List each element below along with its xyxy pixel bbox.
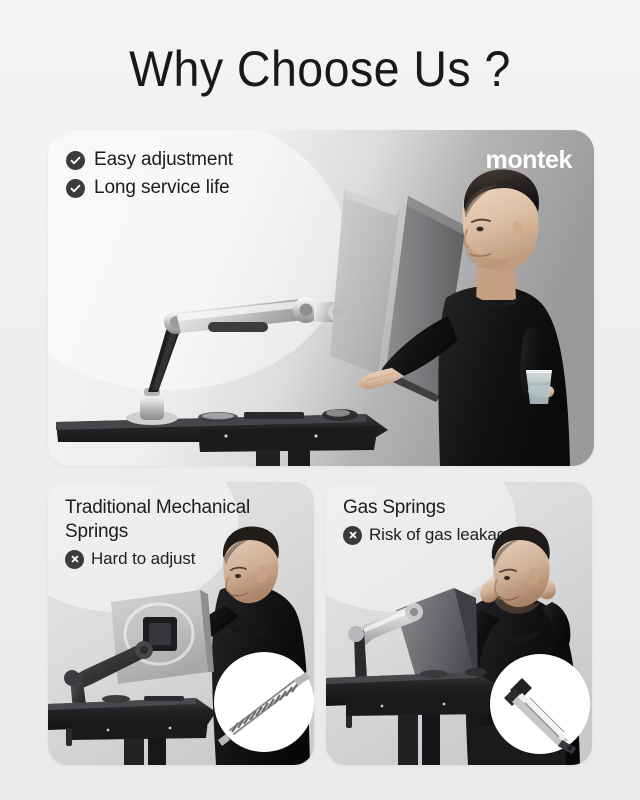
benefit-label: Easy adjustment: [94, 148, 233, 172]
card-title-line1: Traditional Mechanical: [65, 496, 305, 520]
benefit-row: Long service life: [66, 176, 233, 200]
comparison-card-gas-springs: Gas Springs Risk of gas leakage: [326, 482, 592, 765]
drawback-label: Hard to adjust: [91, 548, 195, 570]
check-circle-icon: [66, 151, 85, 170]
card-title-line2: Springs: [65, 520, 305, 544]
card-heading-block: Traditional Mechanical Springs Hard to a…: [65, 496, 305, 570]
comparison-card-traditional-springs: Traditional Mechanical Springs Hard to a…: [48, 482, 314, 765]
hero-card: Easy adjustment Long service life montek: [48, 130, 594, 466]
brand-logo: montek: [485, 146, 572, 174]
gas-cylinder-inset: [490, 654, 590, 754]
card-heading-block: Gas Springs Risk of gas leakage: [343, 496, 583, 546]
x-circle-icon: [65, 550, 84, 569]
drawback-row: Risk of gas leakage: [343, 524, 583, 546]
check-circle-icon: [66, 179, 85, 198]
page-title: Why Choose Us ?: [22, 38, 617, 100]
drawback-label: Risk of gas leakage: [369, 524, 515, 546]
benefit-row: Easy adjustment: [66, 148, 233, 172]
card-title-line1: Gas Springs: [343, 496, 583, 520]
coil-spring-inset: [214, 652, 314, 752]
benefit-label: Long service life: [94, 176, 230, 200]
monitor-being-lifted: [111, 590, 214, 684]
hero-benefit-list: Easy adjustment Long service life: [66, 148, 233, 204]
drawback-row: Hard to adjust: [65, 548, 305, 570]
promo-page: Why Choose Us ?: [0, 0, 640, 800]
x-circle-icon: [343, 526, 362, 545]
